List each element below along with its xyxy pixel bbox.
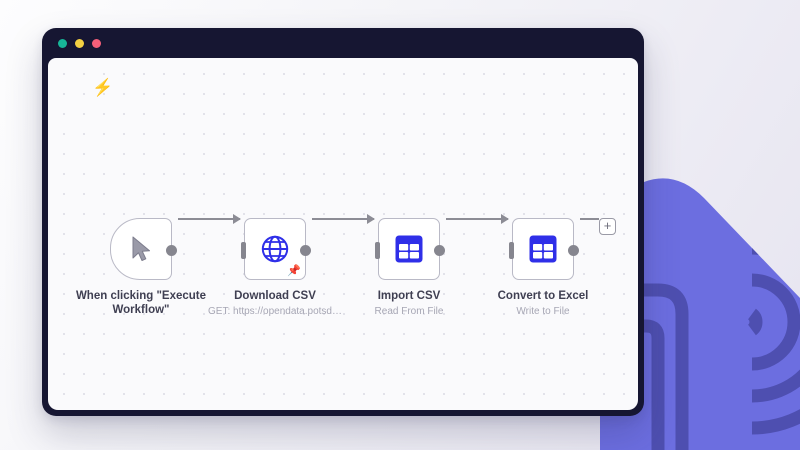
pin-icon[interactable]: 📌 bbox=[287, 266, 301, 277]
minimize-dot[interactable] bbox=[75, 39, 84, 48]
traffic-lights bbox=[58, 39, 101, 48]
maximize-dot[interactable] bbox=[92, 39, 101, 48]
lightning-bolt-icon: ⚡ bbox=[92, 79, 113, 96]
spreadsheet-icon bbox=[395, 235, 423, 263]
node-convert-to-excel[interactable]: Convert to Excel Write to File bbox=[512, 218, 574, 280]
connector-3 bbox=[446, 218, 508, 220]
node-output-connector[interactable] bbox=[300, 245, 311, 256]
workflow-graph: ⚡ When clicking "Execute Workflow" bbox=[48, 58, 638, 410]
node-import-csv[interactable]: Import CSV Read From File bbox=[378, 218, 440, 280]
screenshot-stage: ⚡ When clicking "Execute Workflow" bbox=[0, 0, 800, 450]
add-node-button[interactable]: + bbox=[599, 218, 616, 235]
connector-2 bbox=[312, 218, 374, 220]
node-download-csv[interactable]: 📌 Download CSV GET: https://opendata.pot… bbox=[244, 218, 306, 280]
node-output-connector[interactable] bbox=[166, 245, 177, 256]
node-output-connector[interactable] bbox=[434, 245, 445, 256]
window-titlebar bbox=[42, 28, 644, 58]
node-output-connector[interactable] bbox=[568, 245, 579, 256]
app-window: ⚡ When clicking "Execute Workflow" bbox=[42, 28, 644, 416]
close-dot[interactable] bbox=[58, 39, 67, 48]
node-when-clicking-execute-workflow[interactable]: When clicking "Execute Workflow" bbox=[110, 218, 172, 280]
node-input-connector[interactable] bbox=[509, 242, 514, 259]
connector-4 bbox=[580, 218, 599, 220]
globe-icon bbox=[260, 234, 290, 264]
node-input-connector[interactable] bbox=[375, 242, 380, 259]
connector-1 bbox=[178, 218, 240, 220]
spreadsheet-icon bbox=[529, 235, 557, 263]
node-label-convert-to-excel: Convert to Excel bbox=[448, 289, 638, 303]
node-subtitle-convert-to-excel: Write to File bbox=[438, 305, 638, 318]
workflow-canvas[interactable]: ⚡ When clicking "Execute Workflow" bbox=[48, 58, 638, 410]
cursor-pointer-icon bbox=[130, 236, 152, 262]
node-input-connector[interactable] bbox=[241, 242, 246, 259]
